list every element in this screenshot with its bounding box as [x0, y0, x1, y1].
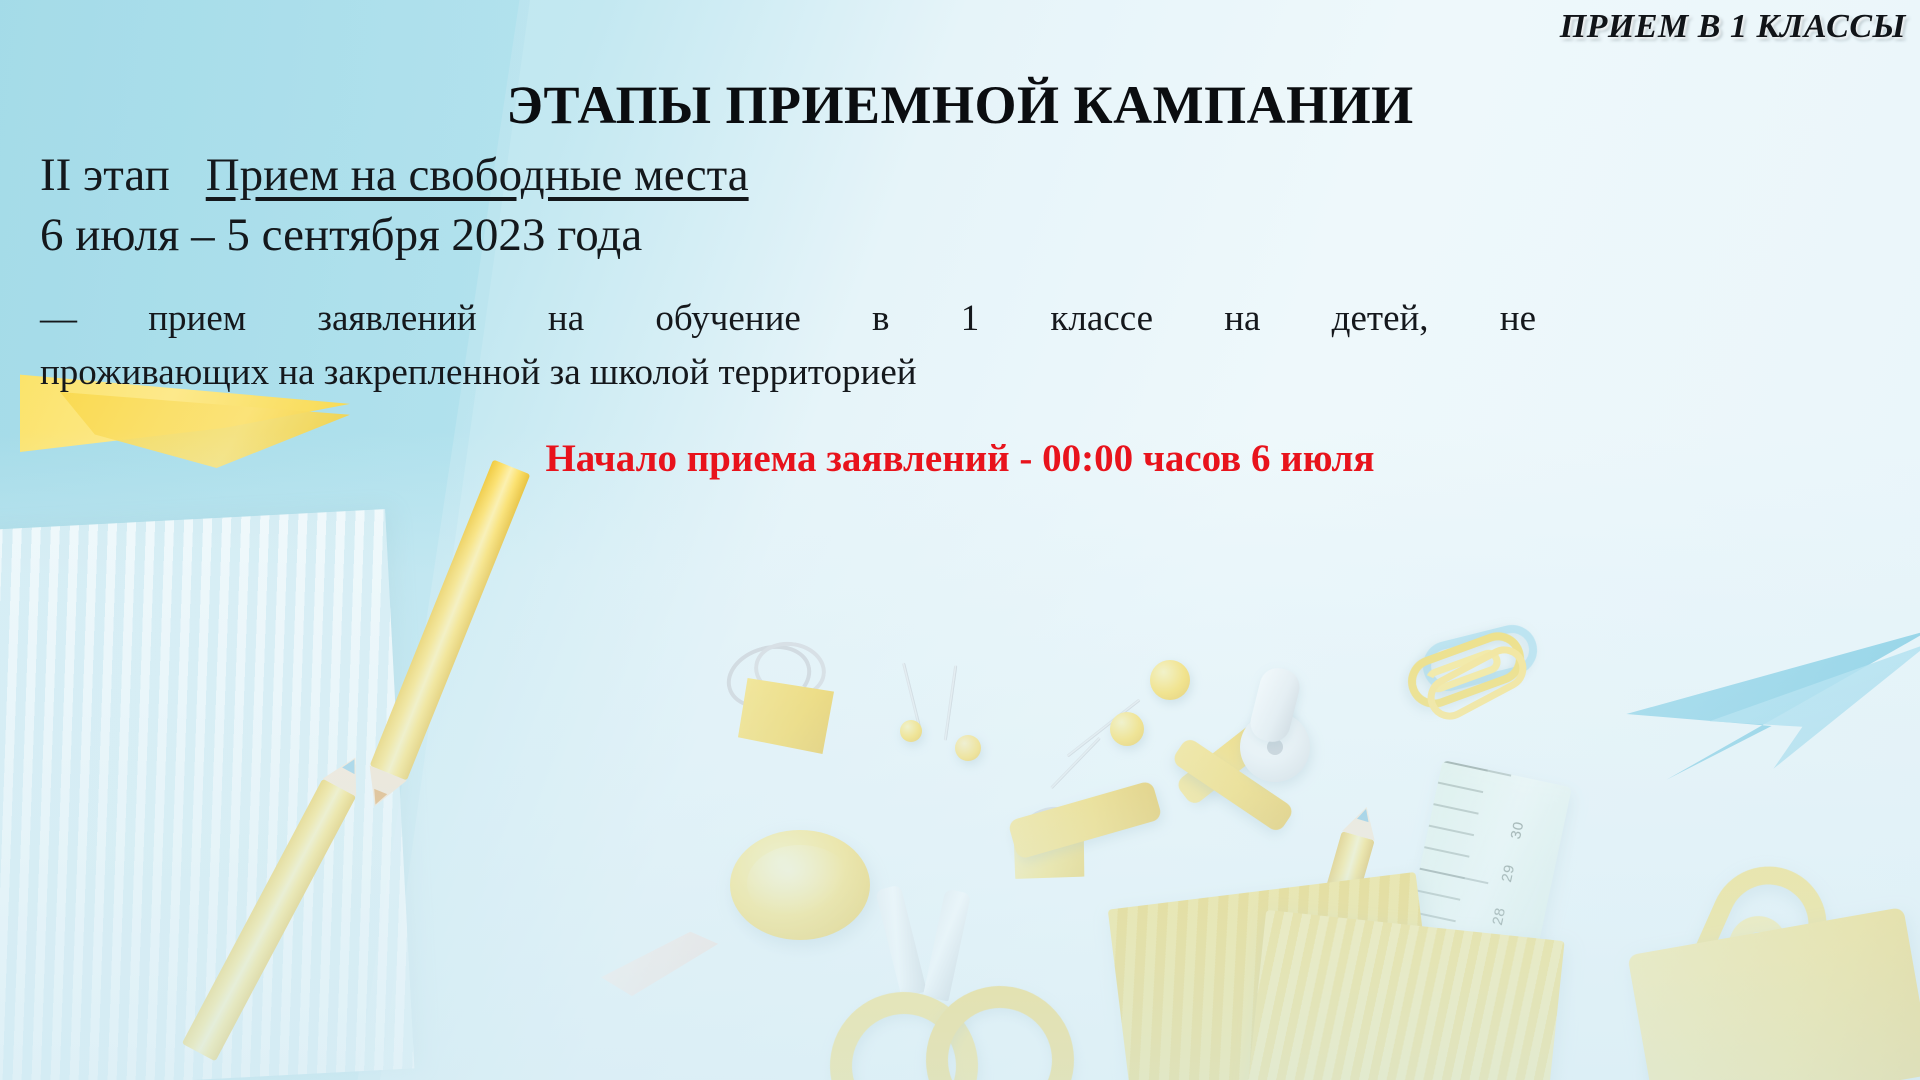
stage-description-line-2: проживающих на закрепленной за школой те…: [40, 346, 1536, 400]
slide-canvas: 302928272625242322 ПРИЕМ В 1 КЛАССЫ ЭТАП…: [0, 0, 1920, 1080]
stage-number: II этап: [40, 149, 170, 201]
stage-name: Прием на свободные места: [206, 149, 749, 201]
page-title: ЭТАПЫ ПРИЕМНОЙ КАМПАНИИ: [0, 74, 1920, 136]
text-layer: ПРИЕМ В 1 КЛАССЫ ЭТАПЫ ПРИЕМНОЙ КАМПАНИИ…: [0, 0, 1920, 1080]
stage-description: — прием заявлений на обучение в 1 классе…: [40, 292, 1536, 401]
start-time-highlight: Начало приема заявлений - 00:00 часов 6 …: [0, 436, 1920, 481]
slide-kicker: ПРИЕМ В 1 КЛАССЫ: [1560, 8, 1906, 46]
stage-heading: II этапПрием на свободные места: [40, 148, 749, 202]
stage-description-line-1: — прием заявлений на обучение в 1 классе…: [40, 292, 1536, 346]
stage-dates: 6 июля – 5 сентября 2023 года: [40, 208, 642, 262]
